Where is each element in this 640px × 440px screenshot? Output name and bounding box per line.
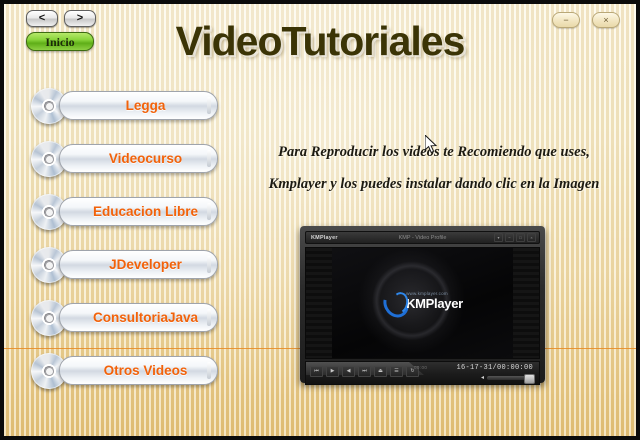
nav-prev-button[interactable]: <: [26, 10, 58, 27]
menu-item-educacion-libre[interactable]: Educacion Libre: [31, 194, 216, 228]
menu-item-jdeveloper[interactable]: JDeveloper: [31, 247, 216, 281]
player-screen: www.kmplayer.com KMPlayer: [332, 248, 513, 358]
player-minimize-button[interactable]: −: [505, 233, 514, 242]
nav-next-label: >: [77, 13, 83, 24]
home-button[interactable]: Inicio: [26, 32, 94, 51]
kmplayer-logo: www.kmplayer.com KMPlayer: [382, 290, 463, 312]
player-elapsed-mini: 00:00: [414, 365, 427, 370]
nav-prev-label: <: [39, 13, 45, 24]
speaker-icon: ◂: [481, 375, 484, 381]
menu-item-label: JDeveloper: [95, 257, 182, 272]
rewind-button[interactable]: ◀: [342, 366, 355, 377]
player-menu-button[interactable]: ▾: [494, 233, 503, 242]
volume-slider-knob[interactable]: [524, 374, 535, 384]
nav-next-button[interactable]: >: [64, 10, 96, 27]
player-control-bar: ⏮ ▶ ◀ ⏭ ⏏ ☰ ↻ 00:00 16-17-31/00:00:00 ◂: [305, 361, 540, 385]
nav-arrows: < >: [26, 10, 96, 27]
play-button[interactable]: ▶: [326, 366, 339, 377]
close-button[interactable]: ×: [592, 12, 620, 28]
window-controls: − ×: [552, 12, 620, 28]
player-right-panel: [513, 248, 539, 358]
volume-slider-track[interactable]: [487, 376, 533, 380]
kmplayer-logo-text: www.kmplayer.com KMPlayer: [406, 292, 463, 311]
top-nav: < > Inicio: [26, 10, 96, 51]
menu-item-pill[interactable]: Legga: [59, 91, 218, 120]
playlist-button[interactable]: ☰: [390, 366, 403, 377]
minimize-icon: −: [563, 16, 568, 25]
previous-track-button[interactable]: ⏮: [310, 366, 323, 377]
app-window: < > Inicio − × VideoTutoriales Legga: [0, 0, 640, 440]
menu-item-consultoriajava[interactable]: ConsultoriaJava: [31, 300, 216, 334]
page-title: VideoTutoriales: [4, 18, 636, 65]
player-timecode: 16-17-31/00:00:00: [456, 364, 533, 372]
player-maximize-button[interactable]: □: [516, 233, 525, 242]
menu-item-otros-videos[interactable]: Otros Videos: [31, 353, 216, 387]
kmplayer-image[interactable]: KMPlayer KMP - Video Profile ▾ − □ × www…: [300, 226, 545, 383]
menu-item-label: Videocurso: [95, 151, 182, 166]
menu-item-pill[interactable]: Videocurso: [59, 144, 218, 173]
player-left-panel: [306, 248, 332, 358]
menu-item-label: Legga: [112, 98, 166, 113]
menu-item-label: Educacion Libre: [79, 204, 198, 219]
menu-item-label: ConsultoriaJava: [79, 310, 198, 325]
player-transport-controls: ⏮ ▶ ◀ ⏭ ⏏ ☰ ↻: [310, 366, 419, 377]
menu-item-videocurso[interactable]: Videocurso: [31, 141, 216, 175]
menu-item-pill[interactable]: Otros Videos: [59, 356, 218, 385]
instructions-line-2: Kmplayer y los puedes instalar dando cli…: [232, 168, 636, 200]
menu-item-pill[interactable]: Educacion Libre: [59, 197, 218, 226]
menu-item-legga[interactable]: Legga: [31, 88, 216, 122]
menu-item-pill[interactable]: ConsultoriaJava: [59, 303, 218, 332]
home-button-label: Inicio: [45, 36, 74, 48]
kmplayer-logo-name: KMPlayer: [406, 297, 463, 310]
eject-button[interactable]: ⏏: [374, 366, 387, 377]
kmplayer-arc-icon: [382, 290, 404, 312]
main-menu: Legga Videocurso Educacion Libre JDevelo…: [31, 88, 216, 406]
mouse-cursor: [425, 135, 439, 155]
menu-item-pill[interactable]: JDeveloper: [59, 250, 218, 279]
player-close-button[interactable]: ×: [527, 233, 536, 242]
player-title-bar: KMPlayer KMP - Video Profile ▾ − □ ×: [305, 231, 540, 244]
player-video-area[interactable]: www.kmplayer.com KMPlayer: [305, 247, 540, 359]
next-track-button[interactable]: ⏭: [358, 366, 371, 377]
minimize-button[interactable]: −: [552, 12, 580, 28]
menu-item-label: Otros Videos: [90, 363, 188, 378]
player-window-buttons: ▾ − □ ×: [494, 233, 536, 242]
close-icon: ×: [603, 16, 608, 25]
player-volume-control[interactable]: ◂: [481, 375, 533, 381]
